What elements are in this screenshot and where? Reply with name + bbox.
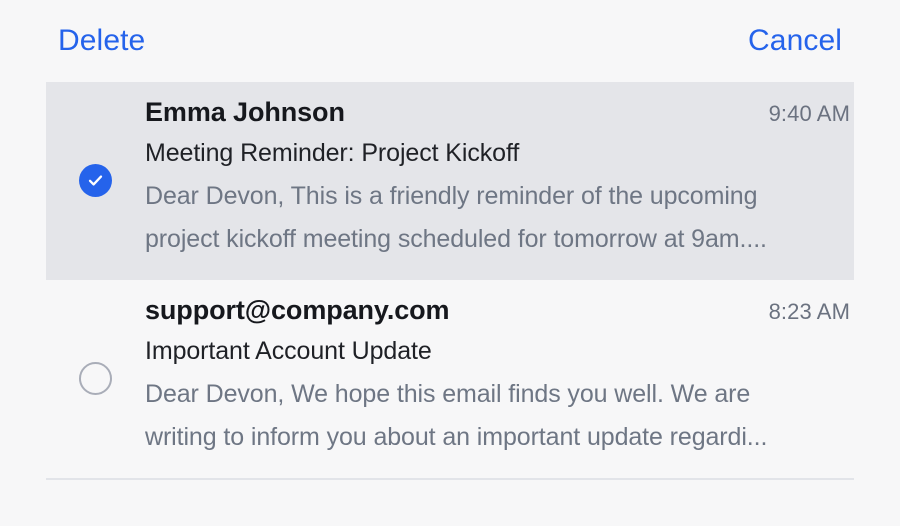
message-sender: support@company.com — [145, 294, 449, 328]
selection-control-cell — [46, 96, 145, 262]
message-time: 8:23 AM — [769, 299, 850, 325]
message-subject: Meeting Reminder: Project Kickoff — [145, 137, 850, 169]
message-header: support@company.com 8:23 AM — [145, 294, 850, 328]
cancel-button[interactable]: Cancel — [748, 26, 842, 56]
mail-selection-screen: Delete Cancel Emma Johnson 9:40 AM Meeti… — [0, 0, 900, 526]
message-sender: Emma Johnson — [145, 96, 345, 130]
message-preview: Dear Devon, We hope this email finds you… — [145, 373, 825, 459]
message-header: Emma Johnson 9:40 AM — [145, 96, 850, 130]
message-content: support@company.com 8:23 AM Important Ac… — [145, 294, 854, 459]
message-content: Emma Johnson 9:40 AM Meeting Reminder: P… — [145, 96, 854, 261]
message-preview: Dear Devon, This is a friendly reminder … — [145, 175, 825, 261]
message-list: Emma Johnson 9:40 AM Meeting Reminder: P… — [0, 82, 900, 526]
check-circle-filled-icon[interactable] — [79, 164, 112, 197]
selection-control-cell — [46, 294, 145, 460]
circle-outline-icon[interactable] — [79, 362, 112, 395]
message-row-selected[interactable]: Emma Johnson 9:40 AM Meeting Reminder: P… — [46, 82, 854, 280]
list-divider — [46, 478, 854, 480]
message-row[interactable]: support@company.com 8:23 AM Important Ac… — [46, 280, 854, 478]
message-subject: Important Account Update — [145, 335, 850, 367]
action-bar: Delete Cancel — [0, 0, 900, 82]
message-time: 9:40 AM — [769, 101, 850, 127]
delete-button[interactable]: Delete — [58, 26, 145, 56]
